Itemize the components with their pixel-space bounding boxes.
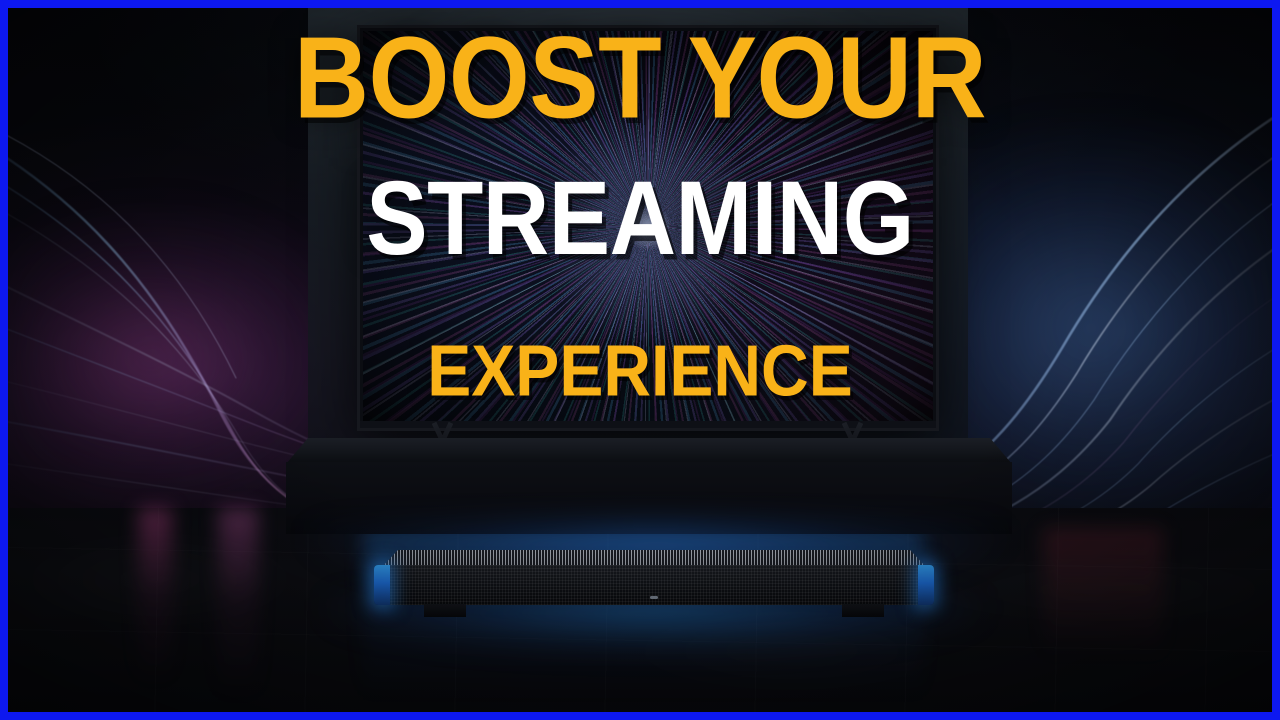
video-thumbnail: BOOST YOUR STREAMING EXPERIENCE bbox=[0, 0, 1280, 720]
soundbar-led-cap-right bbox=[918, 565, 934, 605]
soundbar bbox=[376, 550, 932, 618]
soundbar-foot-right bbox=[842, 604, 884, 617]
tv-screen bbox=[363, 31, 933, 423]
soundbar-foot-left bbox=[424, 604, 466, 617]
soundbar-led-cap-left bbox=[374, 565, 390, 605]
floor-reflection-red bbox=[1043, 528, 1163, 658]
soundbar-status-led bbox=[650, 596, 658, 599]
screen-vignette bbox=[363, 31, 933, 423]
media-console bbox=[286, 438, 1012, 534]
floor-reflection-pink-1 bbox=[138, 508, 172, 683]
floor-reflection-pink-2 bbox=[218, 508, 258, 698]
soundbar-mesh-face bbox=[376, 565, 932, 605]
flat-screen-tv bbox=[360, 28, 936, 428]
scene bbox=[8, 8, 1272, 712]
console-front-panel bbox=[286, 462, 1012, 534]
console-top-surface bbox=[286, 438, 1012, 464]
